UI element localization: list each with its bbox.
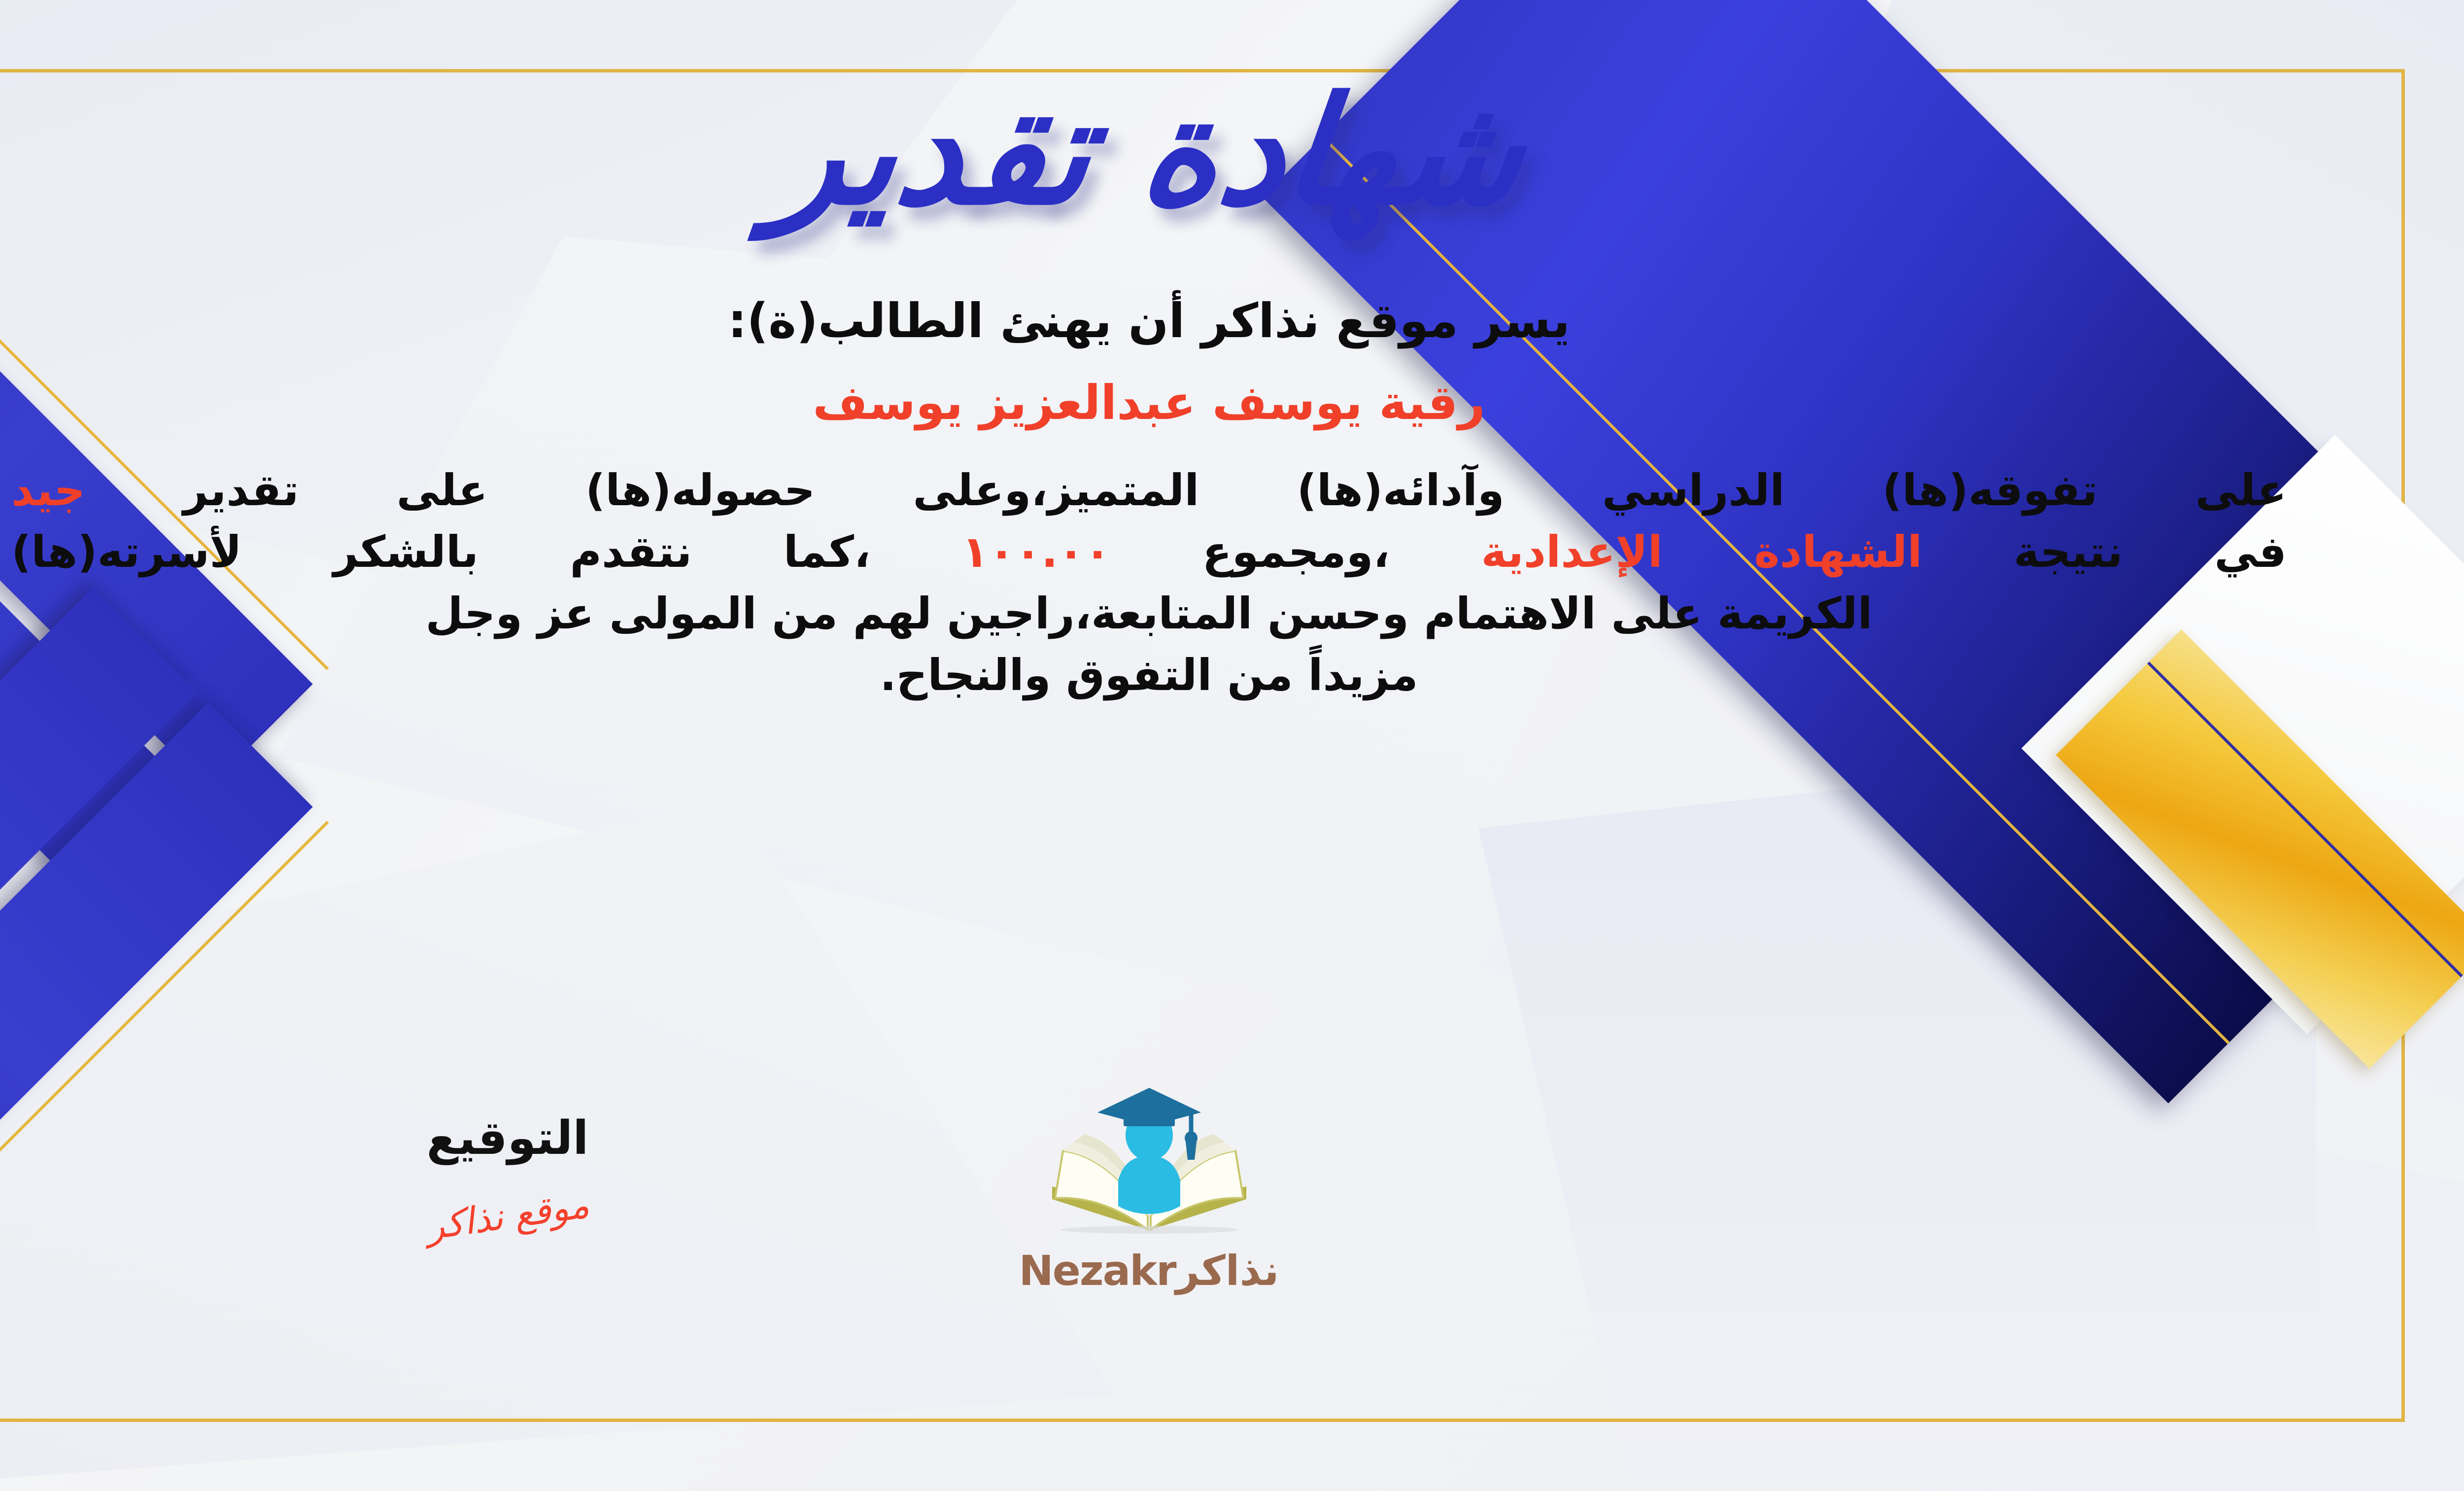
body-paragraph: على تفوقه(ها) الدراسي وآدائه(ها) المتميز… bbox=[0, 460, 2316, 706]
brand-name: نذاكرNezakr bbox=[977, 1247, 1322, 1295]
body-line-2-mid: ،ومجموع bbox=[1202, 526, 1390, 577]
body-line-2: في نتيجة الشهادة الإعدادية ،ومجموع ١٠٠.٠… bbox=[0, 521, 2316, 583]
signature-label: التوقيع bbox=[335, 1111, 680, 1165]
score-value: ١٠٠.٠٠ bbox=[962, 526, 1111, 577]
mortarboard-top bbox=[1097, 1088, 1201, 1126]
body-line-1: على تفوقه(ها) الدراسي وآدائه(ها) المتميز… bbox=[0, 460, 2316, 521]
exam-name: الشهادة الإعدادية bbox=[1481, 526, 1922, 577]
body-line-2-suffix: ،كما نتقدم بالشكر لأسرته(ها) bbox=[11, 526, 870, 577]
body-line-4: مزيداً من التفوق والنجاح. bbox=[0, 645, 2316, 706]
greeting-text: يسر موقع نذاكر أن يهنئ الطالب(ة): bbox=[728, 293, 1570, 348]
signature-block: التوقيع موقع نذاكر bbox=[335, 1111, 680, 1237]
certificate-canvas: شهادة تقدير يسر موقع نذاكر أن يهنئ الطال… bbox=[0, 0, 2464, 1491]
body-line-1-text: على تفوقه(ها) الدراسي وآدائه(ها) المتميز… bbox=[183, 465, 2287, 516]
graduate-book-icon bbox=[1043, 1082, 1255, 1245]
page-title: شهادة تقدير bbox=[767, 74, 1531, 229]
brand-logo: نذاكرNezakr bbox=[977, 1082, 1322, 1295]
signature-script: موقع نذاكر bbox=[424, 1183, 592, 1248]
graduate-body bbox=[1118, 1156, 1180, 1214]
body-line-2-prefix: في نتيجة bbox=[2014, 526, 2287, 577]
student-name: رقية يوسف عبدالعزيز يوسف bbox=[813, 375, 1485, 430]
grade-value: جيد bbox=[11, 465, 85, 516]
certificate-footer: التوقيع موقع نذاكر bbox=[0, 1082, 2464, 1397]
body-line-3: الكريمة على الاهتمام وحسن المتابعة،راجين… bbox=[0, 583, 2316, 645]
